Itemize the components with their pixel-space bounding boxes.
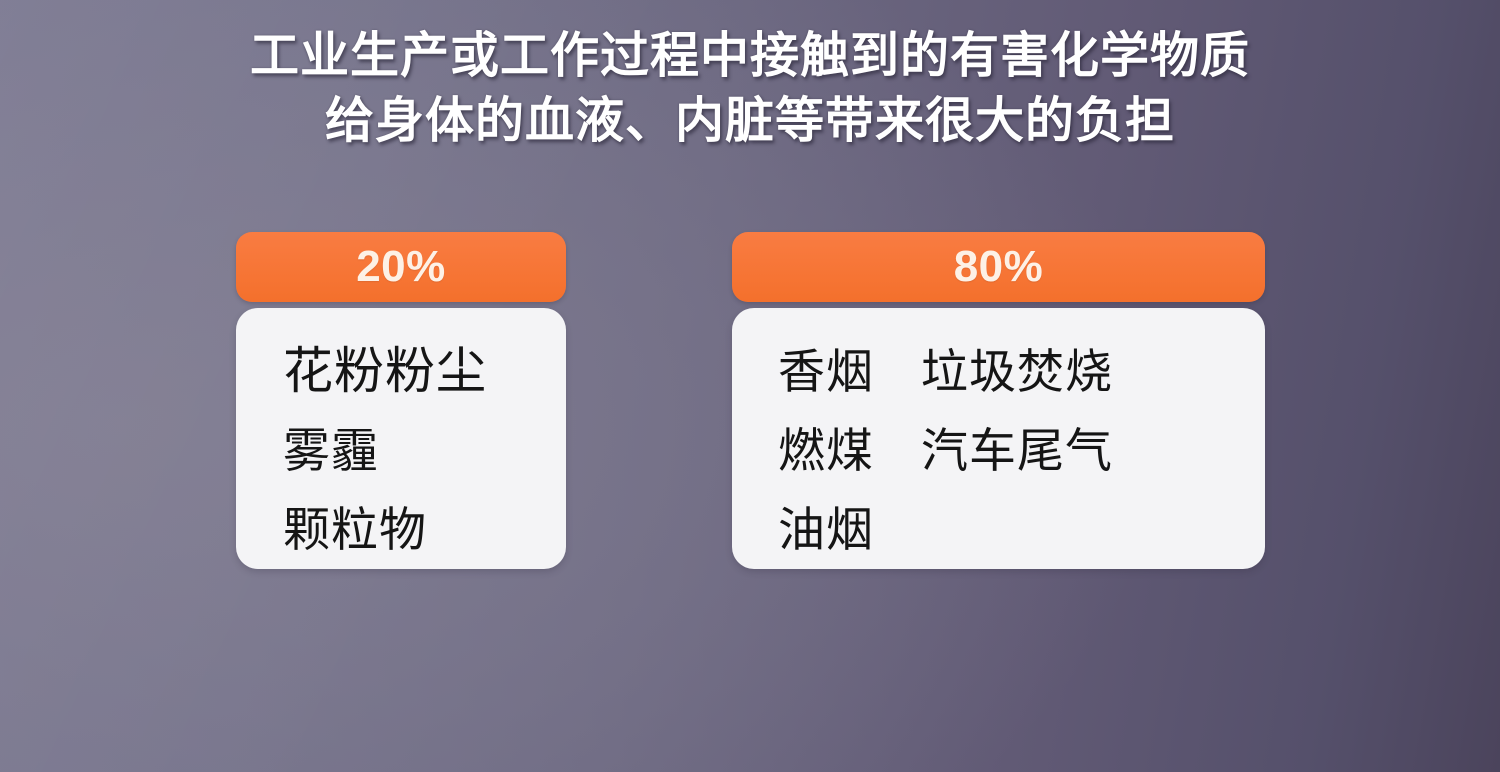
card-20-percent: 20% 花粉粉尘 雾霾 颗粒物 — [236, 232, 566, 569]
card-20-header: 20% — [236, 232, 566, 302]
list-item: 颗粒物 — [283, 490, 487, 569]
list-item: 花粉粉尘 — [283, 332, 487, 411]
page-title: 工业生产或工作过程中接触到的有害化学物质 给身体的血液、内脏等带来很大的负担 — [0, 26, 1500, 151]
card-80-column-2: 垃圾焚烧 汽车尾气 — [921, 332, 1113, 569]
card-80-percent: 80% 香烟 燃煤 油烟 垃圾焚烧 汽车尾气 — [732, 232, 1265, 569]
card-80-column-1: 香烟 燃煤 油烟 — [778, 332, 874, 569]
card-80-columns: 香烟 燃煤 油烟 垃圾焚烧 汽车尾气 — [732, 308, 1265, 569]
card-20-column-1: 花粉粉尘 雾霾 颗粒物 — [283, 332, 487, 569]
list-item: 香烟 — [778, 332, 874, 411]
card-80-percent-label: 80% — [954, 245, 1044, 289]
card-80-body: 香烟 燃煤 油烟 垃圾焚烧 汽车尾气 — [732, 308, 1265, 569]
list-item: 垃圾焚烧 — [921, 332, 1113, 411]
card-20-body: 花粉粉尘 雾霾 颗粒物 — [236, 308, 566, 569]
card-80-header: 80% — [732, 232, 1265, 302]
slide-root: 工业生产或工作过程中接触到的有害化学物质 给身体的血液、内脏等带来很大的负担 2… — [0, 0, 1500, 772]
card-20-columns: 花粉粉尘 雾霾 颗粒物 — [236, 308, 566, 569]
list-item: 雾霾 — [283, 411, 487, 490]
title-line-2: 给身体的血液、内脏等带来很大的负担 — [0, 91, 1500, 151]
list-item: 燃煤 — [778, 411, 874, 490]
list-item: 油烟 — [778, 490, 874, 569]
list-item: 汽车尾气 — [921, 411, 1113, 490]
title-line-1: 工业生产或工作过程中接触到的有害化学物质 — [0, 26, 1500, 86]
card-20-percent-label: 20% — [356, 245, 446, 289]
